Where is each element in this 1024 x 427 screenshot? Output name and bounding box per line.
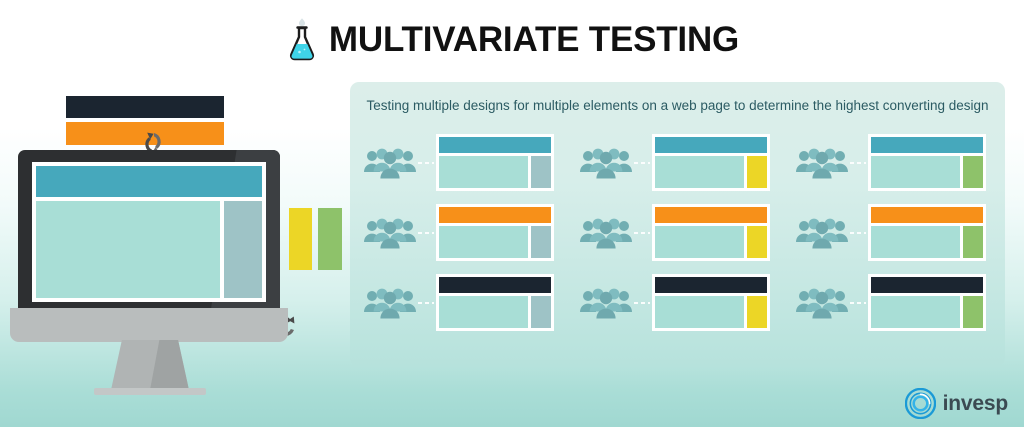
connector-line [634,232,650,234]
connector-line [418,162,434,164]
mini-page-body [871,156,983,188]
desktop-monitor [18,150,280,315]
mini-page-content [655,296,744,328]
people-group-icon [796,145,848,181]
orange-header [871,207,983,223]
mini-page-preview[interactable] [652,274,770,331]
yellow-sidebar [747,156,767,188]
variation-cell[interactable] [364,204,560,261]
invesp-swirl-icon [905,388,936,419]
navy-header [871,277,983,293]
orange-header [655,207,767,223]
mini-page-body [871,296,983,328]
screen-sidebar[interactable] [224,201,262,298]
mini-page-preview[interactable] [868,134,986,191]
variation-cell[interactable] [364,274,560,331]
people-group-icon [580,285,632,321]
mini-page-preview[interactable] [436,274,554,331]
mini-page-preview[interactable] [868,204,986,261]
teal-header [871,137,983,153]
mini-page-preview[interactable] [436,134,554,191]
green-sidebar-swatch[interactable] [318,208,342,270]
people-group-icon [796,215,848,251]
panel-subtitle: Testing multiple designs for multiple el… [350,98,1005,113]
mini-page-body [871,226,983,258]
green-sidebar [963,226,983,258]
mini-page-preview[interactable] [868,274,986,331]
navy-header [439,277,551,293]
mini-page-body [655,226,767,258]
mini-page-body [655,296,767,328]
connector-line [850,302,866,304]
mini-page-preview[interactable] [652,204,770,261]
mini-page-preview[interactable] [652,134,770,191]
mini-page-content [871,296,960,328]
connector-line [634,302,650,304]
yellow-sidebar-swatch[interactable] [289,208,312,270]
orange-header [439,207,551,223]
screen-main-content[interactable] [36,201,220,298]
yellow-sidebar [747,226,767,258]
mini-page-preview[interactable] [436,204,554,261]
mini-page-content [871,156,960,188]
variation-cell[interactable] [580,204,776,261]
variation-cell[interactable] [796,204,992,261]
people-group-icon [580,145,632,181]
mini-page-content [439,226,528,258]
infographic-canvas: MULTIVARIATE TESTING [0,0,1024,427]
connector-line [850,232,866,234]
variation-matrix-panel: Testing multiple designs for multiple el… [350,82,1005,367]
mini-page-body [439,296,551,328]
page-title-row: MULTIVARIATE TESTING [0,14,1024,64]
connector-line [418,232,434,234]
variation-row [364,274,992,331]
flask-icon [285,14,319,64]
mini-page-content [655,226,744,258]
people-group-icon [364,285,416,321]
variation-cell[interactable] [580,274,776,331]
page-title: MULTIVARIATE TESTING [329,22,739,57]
monitor-screen [32,162,266,302]
variation-row [364,204,992,261]
teal-header [439,137,551,153]
variation-cell[interactable] [796,134,992,191]
people-group-icon [796,285,848,321]
mini-page-content [439,156,528,188]
variation-cell[interactable] [796,274,992,331]
green-sidebar [963,296,983,328]
variation-cell[interactable] [580,134,776,191]
people-group-icon [580,215,632,251]
navy-header-swatch[interactable] [66,96,224,118]
teal-header [655,137,767,153]
green-sidebar [963,156,983,188]
people-group-icon [364,145,416,181]
connector-line [634,162,650,164]
monitor-chin [10,308,288,342]
navy-header [655,277,767,293]
gray-sidebar [531,296,551,328]
monitor-stand-base [94,388,206,395]
mini-page-content [871,226,960,258]
gray-sidebar [531,226,551,258]
yellow-sidebar [747,296,767,328]
variation-row [364,134,992,191]
mini-page-content [439,296,528,328]
screen-header-bar[interactable] [36,166,262,197]
brand-logo-text: invesp [943,393,1008,414]
mini-page-body [439,226,551,258]
connector-line [418,302,434,304]
variation-cell[interactable] [364,134,560,191]
connector-line [850,162,866,164]
mini-page-body [655,156,767,188]
variation-grid [364,134,992,331]
mini-page-body [439,156,551,188]
monitor-illustration [8,88,348,388]
mini-page-content [655,156,744,188]
screen-body [36,201,262,298]
gray-sidebar [531,156,551,188]
brand-logo[interactable]: invesp [905,388,1008,419]
people-group-icon [364,215,416,251]
